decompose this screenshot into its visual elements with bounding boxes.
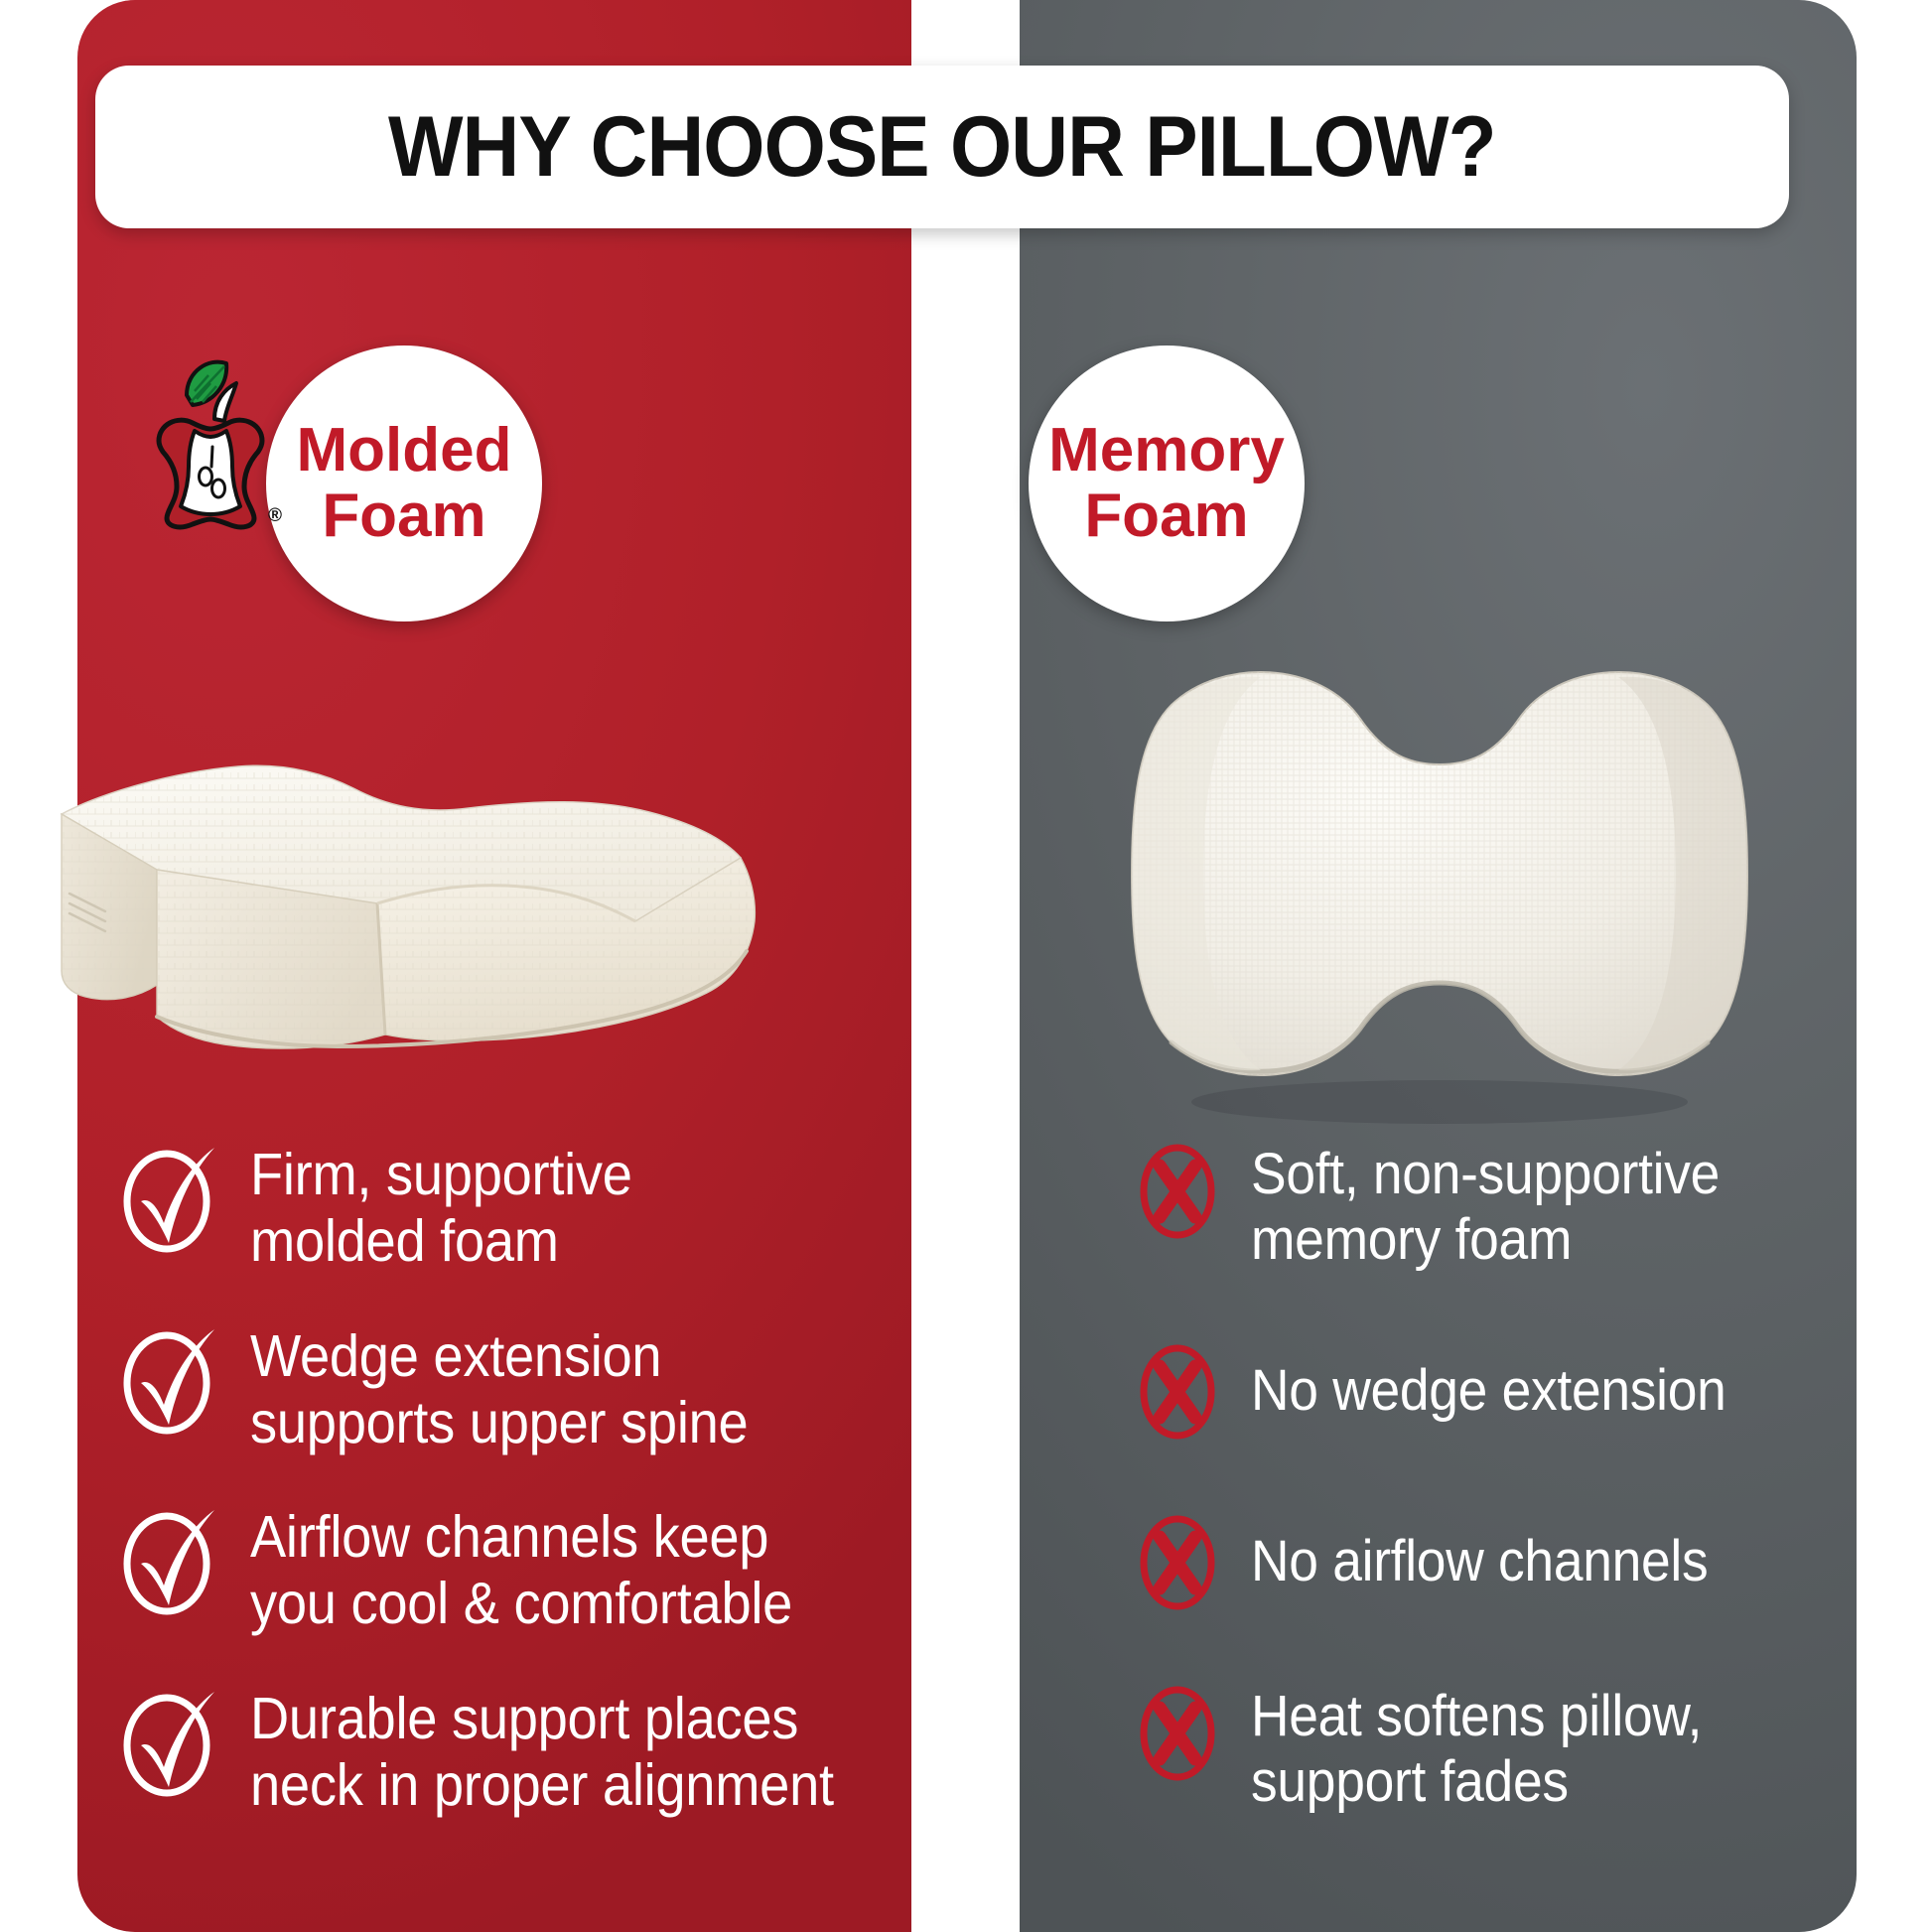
x-mark-icon [1130, 1511, 1225, 1614]
x-mark-icon [1130, 1140, 1225, 1243]
list-item-label: Soft, non-supportive memory foam [1251, 1138, 1720, 1273]
checkmark-icon [117, 1140, 224, 1255]
badge-molded-foam: Molded Foam [266, 345, 542, 621]
list-item-line1: No airflow channels [1251, 1529, 1708, 1593]
molded-foam-pillow-image [40, 737, 774, 1064]
list-item-label: Durable support places neck in proper al… [250, 1682, 834, 1820]
list-item-line2: support fades [1251, 1749, 1569, 1814]
list-item-label: Heat softens pillow, support fades [1251, 1680, 1702, 1815]
list-item: Heat softens pillow, support fades [1130, 1680, 1884, 1815]
memory-foam-drawbacks-list: Soft, non-supportive memory foam No wedg… [1130, 1138, 1884, 1880]
page-title: WHY CHOOSE OUR PILLOW? [388, 98, 1496, 197]
list-item-line2: supports upper spine [250, 1390, 748, 1455]
title-banner: WHY CHOOSE OUR PILLOW? [95, 66, 1789, 228]
list-item-line1: Airflow channels keep [250, 1504, 768, 1570]
list-item: Durable support places neck in proper al… [117, 1682, 901, 1820]
checkmark-icon [117, 1502, 224, 1617]
badge-memory-foam-line2: Foam [1084, 483, 1248, 549]
x-mark-icon [1130, 1682, 1225, 1785]
badge-molded-foam-line1: Molded [297, 418, 512, 483]
list-item: No wedge extension [1130, 1338, 1884, 1444]
list-item-label: Airflow channels keep you cool & comfort… [250, 1500, 792, 1638]
list-item: Soft, non-supportive memory foam [1130, 1138, 1884, 1273]
list-item-label: No airflow channels [1251, 1509, 1708, 1594]
badge-molded-foam-line2: Foam [322, 483, 485, 549]
list-item-line2: neck in proper alignment [250, 1752, 834, 1818]
memory-foam-pillow-image [1112, 635, 1767, 1132]
list-item-line1: Soft, non-supportive [1251, 1142, 1720, 1206]
list-item-line1: Durable support places [250, 1686, 798, 1751]
list-item-line1: No wedge extension [1251, 1358, 1726, 1423]
badge-memory-foam: Memory Foam [1029, 345, 1305, 621]
registered-trademark-mark: ® [268, 505, 282, 527]
list-item: Firm, supportive molded foam [117, 1138, 901, 1276]
list-item: Airflow channels keep you cool & comfort… [117, 1500, 901, 1638]
list-item: Wedge extension supports upper spine [117, 1319, 901, 1457]
x-mark-icon [1130, 1340, 1225, 1444]
checkmark-icon [117, 1321, 224, 1437]
list-item-label: No wedge extension [1251, 1338, 1726, 1424]
list-item-line2: you cool & comfortable [250, 1571, 792, 1636]
infographic-root: WHY CHOOSE OUR PILLOW? ® Molded Foam Mem… [0, 0, 1932, 1932]
list-item: No airflow channels [1130, 1509, 1884, 1614]
list-item-line1: Firm, supportive [250, 1142, 632, 1207]
list-item-line2: memory foam [1251, 1207, 1572, 1272]
list-item-label: Firm, supportive molded foam [250, 1138, 632, 1276]
checkmark-icon [117, 1684, 224, 1799]
badge-memory-foam-line1: Memory [1048, 418, 1285, 483]
list-item-line2: molded foam [250, 1208, 559, 1274]
list-item-label: Wedge extension supports upper spine [250, 1319, 748, 1457]
list-item-line1: Wedge extension [250, 1323, 661, 1389]
apple-core-logo: ® [151, 349, 270, 533]
molded-foam-benefits-list: Firm, supportive molded foam Wedge exten… [117, 1138, 901, 1863]
list-item-line1: Heat softens pillow, [1251, 1684, 1702, 1748]
